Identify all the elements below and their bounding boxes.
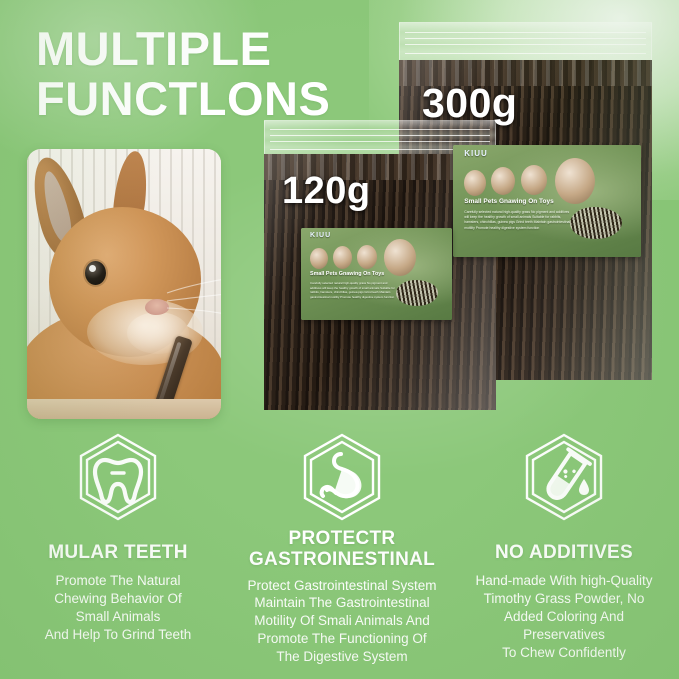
page-title: MULTIPLE FUNCTLONS xyxy=(36,24,330,124)
feature-body-gastrointestinal: Protect Gastrointestinal System Maintain… xyxy=(218,577,466,666)
feature-body-no-additives: Hand-made With high-Quality Timothy Gras… xyxy=(452,572,676,661)
weight-badge-120g: 120g xyxy=(282,170,371,213)
feature-title-no-additives: NO ADDITIVES xyxy=(452,542,676,563)
weight-badge-300g: 300g xyxy=(422,80,517,127)
label-title-300g: Small Pets Gnawing On Toys xyxy=(464,198,553,205)
stomach-icon xyxy=(297,432,387,522)
label-bullets-300g: Carefully selected natural high-quality … xyxy=(464,210,573,231)
product-label-300g: KIUU Small Pets Gnawing On Toys Carefull… xyxy=(453,145,641,257)
feature-no-additives: NO ADDITIVES Hand-made With high-Quality… xyxy=(452,432,676,661)
label-title-120g: Small Pets Gnawing On Toys xyxy=(310,271,384,277)
bag-zip-seal-300g xyxy=(399,22,652,64)
photo-floor xyxy=(27,399,221,419)
feature-body-molar-teeth: Promote The Natural Chewing Behavior Of … xyxy=(8,572,228,643)
hero-photo-rabbit xyxy=(27,149,221,419)
product-infographic-poster: MULTIPLE FUNCTLONS xyxy=(0,0,679,679)
rabbit-eye xyxy=(85,261,106,285)
label-brand-300g: KIUU xyxy=(464,149,488,158)
label-bullets-120g: Carefully selected natural high-quality … xyxy=(310,281,398,299)
tooth-icon xyxy=(73,432,163,522)
feature-gastrointestinal: PROTECTR GASTROINESTINAL Protect Gastroi… xyxy=(218,432,466,666)
test-tube-icon xyxy=(519,432,609,522)
rabbit-nose xyxy=(145,299,169,315)
feature-molar-teeth: MULAR TEETH Promote The Natural Chewing … xyxy=(8,432,228,644)
product-label-120g: KIUU Small Pets Gnawing On Toys Carefull… xyxy=(301,228,452,320)
label-brand-120g: KIUU xyxy=(310,232,331,239)
feature-title-molar-teeth: MULAR TEETH xyxy=(8,542,228,563)
feature-title-gastrointestinal: PROTECTR GASTROINESTINAL xyxy=(218,528,466,571)
